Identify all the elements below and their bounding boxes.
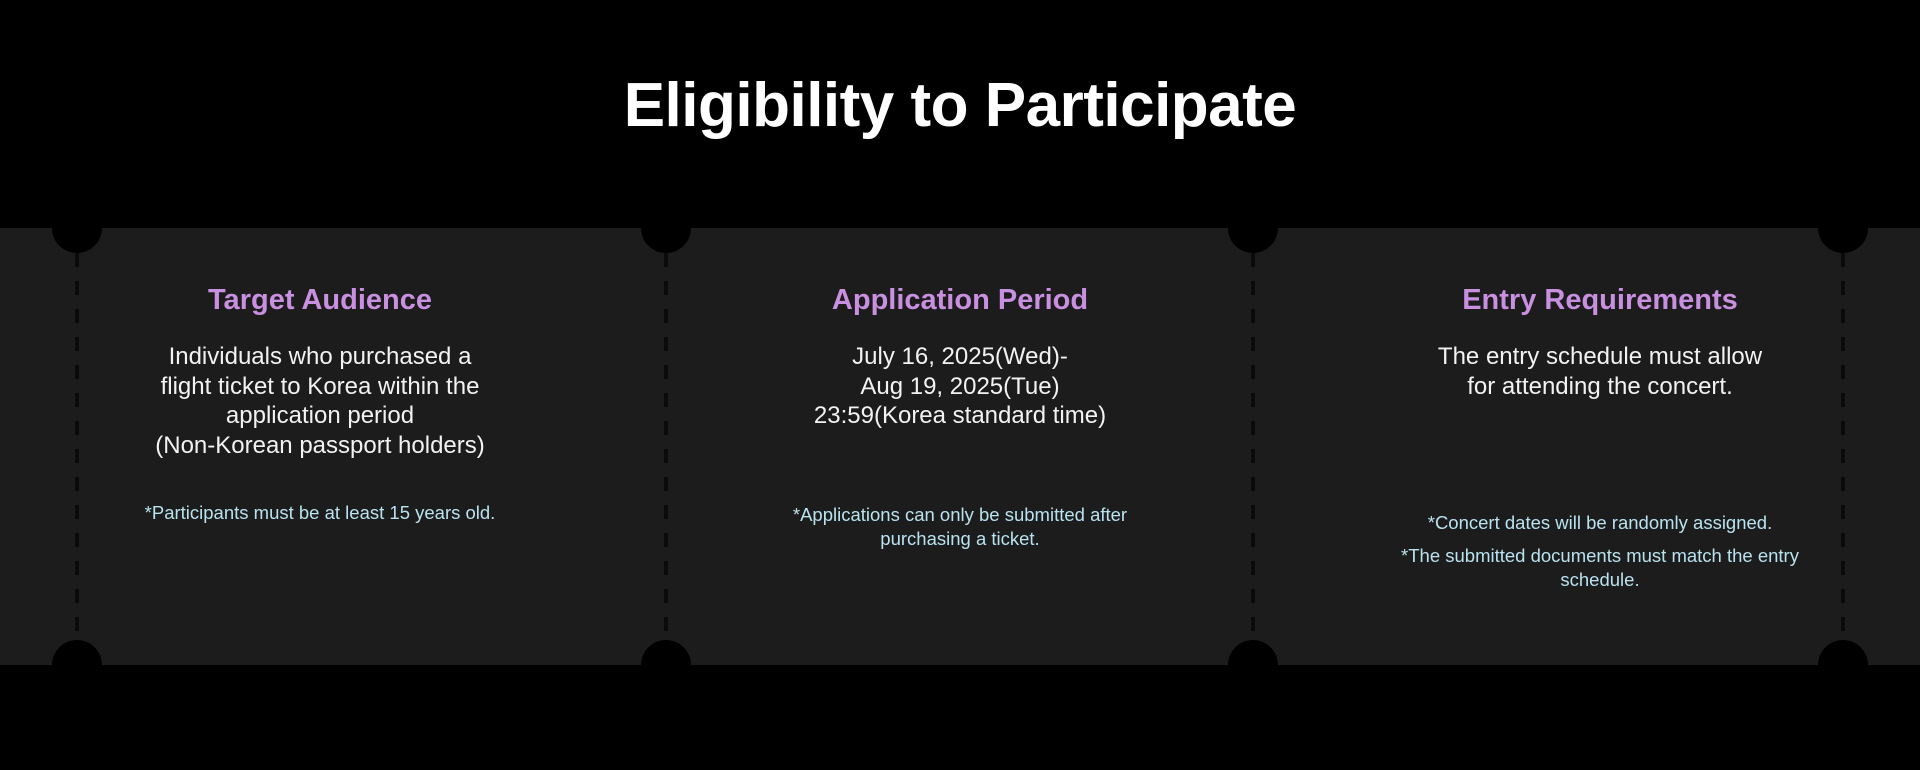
column-target-audience: Target Audience Individuals who purchase… — [0, 228, 640, 524]
body-line: for attending the concert. — [1467, 373, 1733, 400]
column-body-target-audience: Individuals who purchased aflight ticket… — [155, 318, 485, 461]
body-line: application period — [226, 402, 414, 429]
bottom-band — [0, 665, 1920, 770]
note-item: *Concert dates will be randomly assigned… — [1428, 511, 1772, 535]
body-line: 23:59(Korea standard time) — [814, 402, 1106, 429]
ticket-card: Target Audience Individuals who purchase… — [0, 228, 1920, 665]
body-line: The entry schedule must allow — [1438, 343, 1762, 370]
note-item: *Participants must be at least 15 years … — [145, 501, 496, 525]
title-band: Eligibility to Participate — [0, 0, 1920, 228]
body-line: Individuals who purchased a — [169, 343, 472, 370]
body-line: (Non-Korean passport holders) — [155, 432, 485, 459]
column-title-target-audience: Target Audience — [208, 228, 432, 318]
body-line: July 16, 2025(Wed)- — [852, 343, 1068, 370]
column-title-application-period: Application Period — [832, 228, 1088, 318]
column-notes-target-audience: *Participants must be at least 15 years … — [145, 461, 496, 525]
column-entry-requirements: Entry Requirements The entry schedule mu… — [1280, 228, 1920, 591]
column-title-entry-requirements: Entry Requirements — [1462, 228, 1738, 318]
column-notes-entry-requirements: *Concert dates will be randomly assigned… — [1400, 401, 1800, 591]
body-line: flight ticket to Korea within the — [161, 373, 480, 400]
column-notes-application-period: *Applications can only be submitted afte… — [760, 431, 1160, 550]
column-body-entry-requirements: The entry schedule must allowfor attendi… — [1438, 318, 1762, 402]
note-item: *Applications can only be submitted afte… — [760, 503, 1160, 550]
column-application-period: Application Period July 16, 2025(Wed)-Au… — [640, 228, 1280, 550]
column-body-application-period: July 16, 2025(Wed)-Aug 19, 2025(Tue)23:5… — [814, 318, 1106, 431]
page-title: Eligibility to Participate — [624, 72, 1297, 156]
eligibility-columns: Target Audience Individuals who purchase… — [0, 228, 1920, 665]
body-line: Aug 19, 2025(Tue) — [860, 373, 1059, 400]
eligibility-page: Eligibility to Participate Target — [0, 0, 1920, 770]
note-item: *The submitted documents must match the … — [1400, 544, 1800, 591]
